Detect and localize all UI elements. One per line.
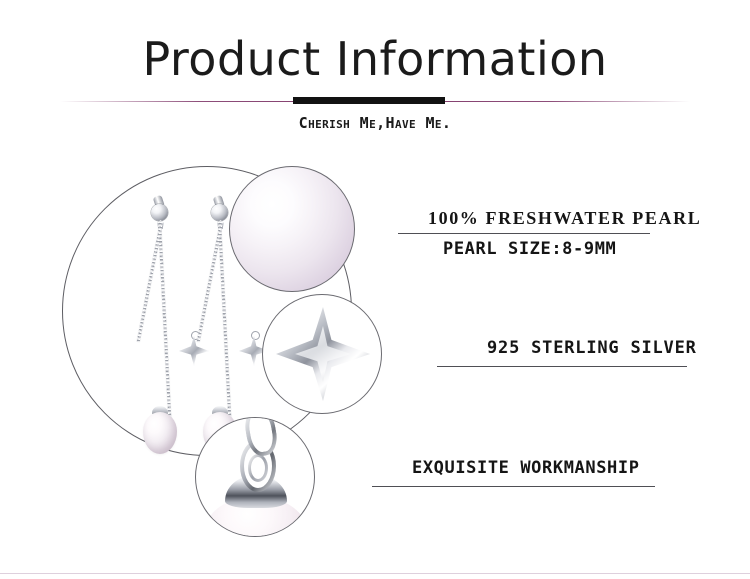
footer-rule <box>0 573 750 574</box>
product-information-banner: Product Information Cherish Me,Have Me. <box>0 0 750 579</box>
label-sterling-silver: 925 STERLING SILVER <box>487 340 697 357</box>
short-chain <box>197 222 223 342</box>
leader-line-silver <box>437 366 687 367</box>
bail-loop-inner <box>248 454 268 482</box>
label-workmanship: EXQUISITE WORKMANSHIP <box>412 460 640 477</box>
label-pearl-size: PEARL SIZE:8-9MM <box>443 241 616 258</box>
page-title: Product Information <box>0 36 750 82</box>
leader-line-pearl <box>398 233 650 234</box>
divider-center-bar <box>293 97 445 104</box>
title-divider <box>0 96 750 108</box>
short-chain <box>137 222 163 342</box>
long-chain <box>218 222 231 418</box>
star-macro-facet <box>295 326 351 382</box>
page-subtitle: Cherish Me,Have Me. <box>0 114 750 132</box>
callout-star-macro <box>262 294 382 414</box>
callout-workmanship-macro <box>195 417 315 537</box>
charm-loop-icon <box>251 331 260 340</box>
stud-ball-icon <box>211 204 228 221</box>
leader-line-workmanship <box>372 486 655 487</box>
label-freshwater-pearl: 100% FRESHWATER PEARL <box>428 209 701 227</box>
callout-pearl-macro <box>229 166 355 292</box>
